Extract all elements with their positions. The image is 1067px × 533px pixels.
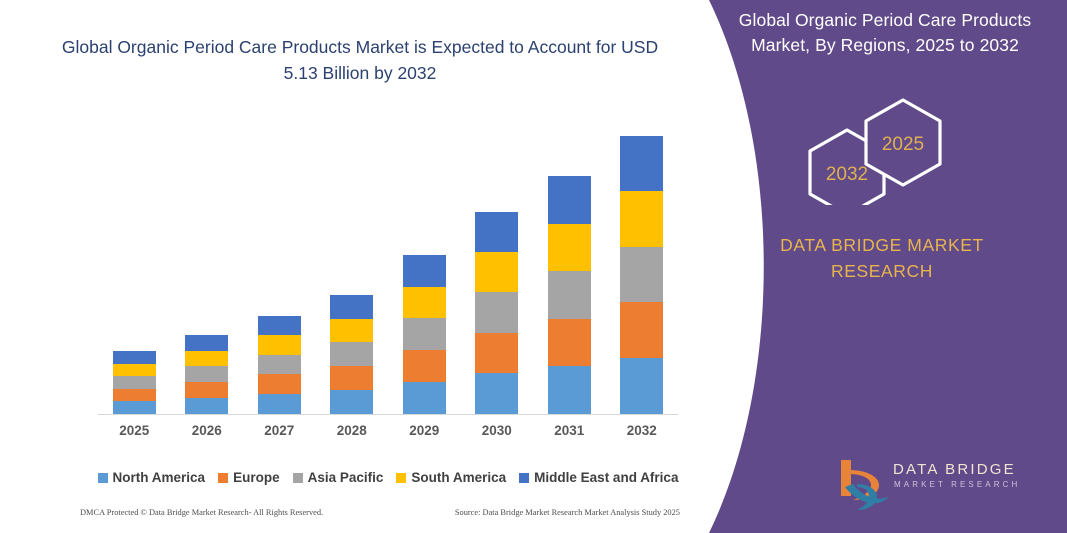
stacked-bar-group: [98, 110, 678, 414]
stacked-bar: [548, 176, 591, 414]
bar-segment: [330, 390, 373, 414]
bar-segment: [620, 302, 663, 357]
x-axis-label-2028: 2028: [316, 423, 388, 438]
legend-item[interactable]: South America: [396, 470, 506, 485]
stacked-bar: [403, 255, 446, 414]
bar-segment: [475, 292, 518, 333]
legend-label: Middle East and Africa: [534, 470, 678, 485]
bar-column-2029: [388, 110, 460, 414]
bar-segment: [475, 212, 518, 252]
bar-segment: [258, 394, 301, 414]
x-axis-label-2031: 2031: [533, 423, 605, 438]
legend-label: North America: [113, 470, 206, 485]
chart-legend: North AmericaEuropeAsia PacificSouth Ame…: [98, 470, 678, 485]
bar-segment: [620, 358, 663, 414]
legend-swatch-icon: [293, 473, 303, 483]
bar-column-2030: [461, 110, 533, 414]
stacked-bar: [620, 136, 663, 414]
bar-column-2027: [243, 110, 315, 414]
bar-segment: [330, 342, 373, 366]
footer: DMCA Protected © Data Bridge Market Rese…: [80, 508, 680, 517]
bar-segment: [258, 374, 301, 394]
bar-segment: [113, 376, 156, 388]
stacked-bar: [113, 351, 156, 414]
legend-swatch-icon: [519, 473, 529, 483]
bar-segment: [113, 401, 156, 414]
panel-content: Global Organic Period Care Products Mark…: [687, 0, 1067, 533]
bar-segment: [548, 224, 591, 271]
bar-segment: [403, 382, 446, 415]
footer-copyright: DMCA Protected © Data Bridge Market Rese…: [80, 508, 323, 517]
x-axis-label-2029: 2029: [388, 423, 460, 438]
bar-segment: [185, 335, 228, 351]
logo-text-sub: MARKET RESEARCH: [894, 480, 1020, 489]
bar-segment: [548, 366, 591, 414]
stacked-bar: [258, 316, 301, 414]
bar-segment: [185, 351, 228, 367]
legend-label: Europe: [233, 470, 280, 485]
stacked-bar: [330, 295, 373, 414]
legend-item[interactable]: Middle East and Africa: [519, 470, 678, 485]
bar-segment: [403, 350, 446, 381]
legend-swatch-icon: [98, 473, 108, 483]
footer-source: Source: Data Bridge Market Research Mark…: [455, 508, 680, 517]
brand-name: DATA BRIDGE MARKET RESEARCH: [727, 232, 1037, 284]
bar-segment: [330, 295, 373, 319]
legend-item[interactable]: Europe: [218, 470, 280, 485]
bar-segment: [548, 176, 591, 224]
bar-segment: [330, 366, 373, 390]
bar-column-2028: [316, 110, 388, 414]
bar-segment: [620, 191, 663, 246]
x-axis-label-2025: 2025: [98, 423, 170, 438]
hexagon-2032-label: 2032: [826, 164, 868, 185]
hexagon-2025-label: 2025: [882, 134, 924, 155]
x-axis-label-2030: 2030: [461, 423, 533, 438]
bar-segment: [258, 316, 301, 336]
bar-segment: [185, 366, 228, 382]
x-axis-labels: 20252026202720282029203020312032: [98, 423, 678, 438]
bar-column-2025: [98, 110, 170, 414]
bar-column-2026: [171, 110, 243, 414]
bar-segment: [548, 319, 591, 366]
bar-segment: [258, 355, 301, 375]
legend-label: Asia Pacific: [308, 470, 384, 485]
brand-panel: Global Organic Period Care Products Mark…: [687, 0, 1067, 533]
hexagon-2025: 2025: [866, 100, 940, 185]
legend-label: South America: [411, 470, 506, 485]
chart-area: Global Organic Period Care Products Mark…: [0, 0, 710, 533]
bar-segment: [403, 287, 446, 318]
company-logo: DATA BRIDGE MARKET RESEARCH: [835, 456, 1035, 514]
bar-segment: [185, 398, 228, 414]
x-axis-label-2027: 2027: [243, 423, 315, 438]
bar-segment: [475, 252, 518, 292]
bar-segment: [403, 255, 446, 286]
bar-segment: [330, 319, 373, 342]
bar-segment: [620, 247, 663, 303]
logo-text-main: DATA BRIDGE: [893, 461, 1016, 478]
bar-segment: [113, 389, 156, 401]
hexagon-badges: 2032 2025: [757, 95, 1057, 205]
bar-segment: [475, 333, 518, 373]
infographic-root: Global Organic Period Care Products Mark…: [0, 0, 1067, 533]
legend-swatch-icon: [396, 473, 406, 483]
legend-swatch-icon: [218, 473, 228, 483]
bar-segment: [403, 318, 446, 350]
x-axis-line: [98, 414, 678, 415]
bar-segment: [113, 364, 156, 376]
bar-segment: [185, 382, 228, 398]
x-axis-label-2032: 2032: [606, 423, 678, 438]
bar-segment: [113, 351, 156, 363]
x-axis-label-2026: 2026: [171, 423, 243, 438]
bar-segment: [475, 373, 518, 414]
bar-column-2031: [533, 110, 605, 414]
bar-segment: [620, 136, 663, 191]
legend-item[interactable]: North America: [98, 470, 206, 485]
bar-segment: [258, 335, 301, 355]
chart-title: Global Organic Period Care Products Mark…: [60, 34, 660, 86]
bar-column-2032: [606, 110, 678, 414]
panel-title: Global Organic Period Care Products Mark…: [715, 8, 1055, 58]
bar-segment: [548, 271, 591, 319]
stacked-bar: [475, 212, 518, 414]
legend-item[interactable]: Asia Pacific: [293, 470, 384, 485]
stacked-bar: [185, 335, 228, 414]
